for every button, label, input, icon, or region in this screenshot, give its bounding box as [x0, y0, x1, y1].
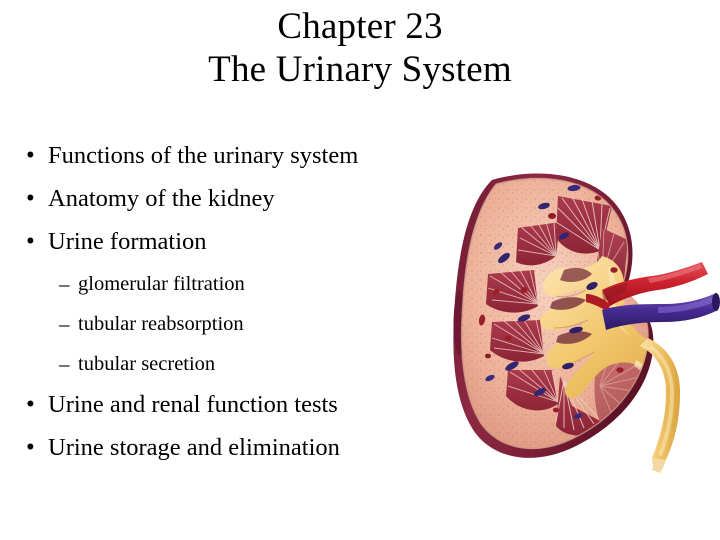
bullet-dot-icon: • [26, 140, 48, 172]
sub-list-item: – tubular reabsorption [26, 309, 456, 349]
sub-list-item-label: tubular secretion [78, 349, 215, 379]
sub-list-item-label: glomerular filtration [78, 269, 245, 299]
bullet-dot-icon: • [26, 389, 48, 421]
list-item-label: Urine storage and elimination [48, 432, 340, 464]
bullet-dot-icon: • [26, 226, 48, 258]
list-item-label: Urine and renal function tests [48, 389, 338, 421]
kidney-coronal-section-illustration [452, 170, 720, 475]
title-line-subject: The Urinary System [0, 51, 720, 90]
list-item: • Functions of the urinary system [26, 140, 456, 183]
title-line-chapter: Chapter 23 [0, 8, 720, 47]
list-item: • Urine formation [26, 226, 456, 269]
renal-cortex [452, 170, 720, 475]
bullet-dot-icon: • [26, 183, 48, 215]
slide-title: Chapter 23 The Urinary System [0, 8, 720, 90]
bullet-dash-icon: – [59, 309, 78, 339]
bullet-dash-icon: – [59, 269, 78, 299]
list-item-label: Functions of the urinary system [48, 140, 358, 172]
renal-pyramid [490, 320, 544, 362]
list-item: • Urine storage and elimination [26, 432, 456, 475]
list-item: • Urine and renal function tests [26, 389, 456, 432]
list-item: • Anatomy of the kidney [26, 183, 456, 226]
bullet-dash-icon: – [59, 349, 78, 379]
sub-list-item: – glomerular filtration [26, 269, 456, 309]
slide-canvas: Chapter 23 The Urinary System • Function… [0, 0, 720, 540]
kidney-diagram-svg [452, 170, 720, 475]
sub-list-item-label: tubular reabsorption [78, 309, 244, 339]
sub-list-item: – tubular secretion [26, 349, 456, 389]
bullet-list: • Functions of the urinary system • Anat… [26, 140, 456, 475]
bullet-dot-icon: • [26, 432, 48, 464]
list-item-label: Urine formation [48, 226, 207, 258]
list-item-label: Anatomy of the kidney [48, 183, 275, 215]
